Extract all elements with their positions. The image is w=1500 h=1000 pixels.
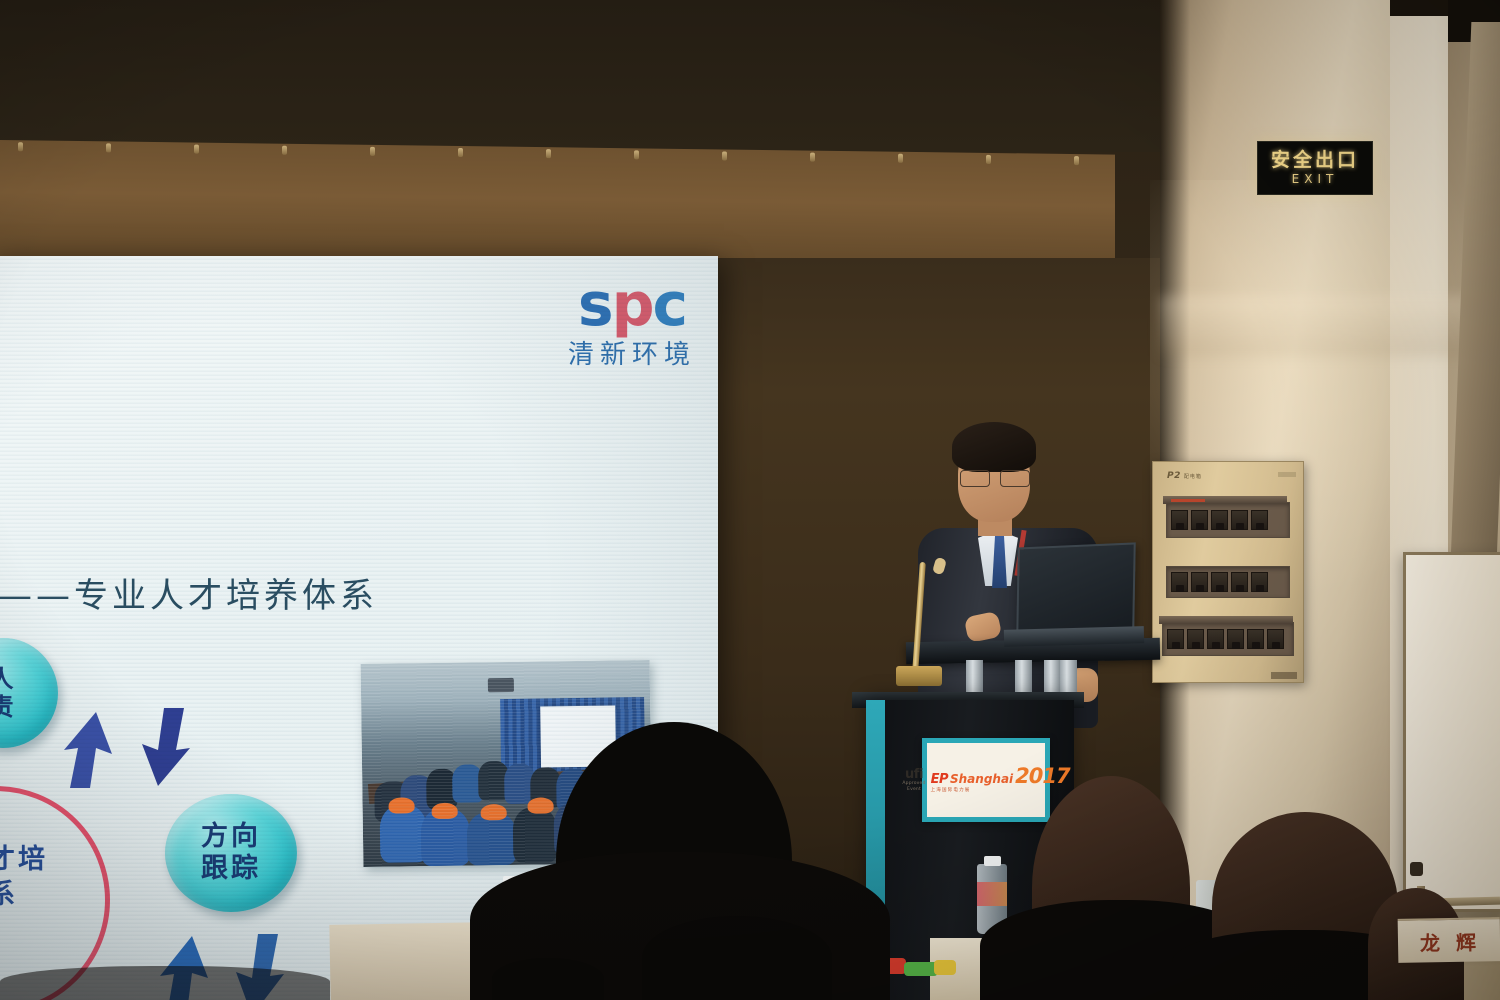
circuit-breaker <box>1211 572 1228 592</box>
breaker-lip-3 <box>1159 616 1293 624</box>
wall-tack <box>106 143 111 152</box>
glasses-icon <box>960 470 1030 485</box>
audience-head <box>642 916 832 1000</box>
ufi-sub-event: Event <box>902 788 925 793</box>
wall-tack <box>18 142 23 151</box>
desk-toy <box>884 950 964 980</box>
speaker-hair <box>952 422 1036 472</box>
whiteboard <box>1403 552 1500 912</box>
ufi-logo: ufi Approved Event <box>902 768 925 792</box>
electrical-panel: P2配电箱 <box>1152 461 1304 683</box>
toy-part-yellow <box>934 960 956 975</box>
circuit-breaker <box>1187 629 1204 649</box>
exit-sign-chinese: 安全出口 <box>1271 151 1359 170</box>
circuit-breaker <box>1231 510 1248 530</box>
bubble-top-left-partial: 人 责 <box>0 638 58 748</box>
center-text-line1: 人才培 <box>0 842 48 877</box>
ep-shanghai-logo: EP Shanghai 2017 上海国际电力展 <box>931 766 1070 794</box>
exit-sign: 安全出口 EXIT <box>1257 141 1373 195</box>
ep-city: Shanghai <box>950 773 1013 785</box>
circuit-breaker <box>1207 629 1224 649</box>
water-bottle-label <box>977 882 1007 906</box>
ep-logo-row: EP Shanghai 2017 <box>931 766 1070 787</box>
center-circle-text: 人才培 体系 <box>0 842 48 912</box>
circuit-breaker <box>1191 572 1208 592</box>
wall-tack <box>282 146 287 155</box>
wall-tack <box>1074 156 1079 165</box>
panel-corner-tag <box>1278 472 1296 477</box>
whiteboard-knob <box>1410 862 1423 876</box>
wall-tack <box>986 155 991 164</box>
conference-hall-photo: 安全出口 EXIT P2配电箱 <box>0 0 1500 1000</box>
spc-wordmark: spc <box>568 278 696 332</box>
bubble0-line1: 人 <box>0 665 17 693</box>
spc-letter-p: p <box>612 270 653 340</box>
circuit-breaker <box>1227 629 1244 649</box>
bubble1-line2: 跟踪 <box>201 853 261 885</box>
ufi-sub-approved: Approved <box>902 782 925 787</box>
wall-tack <box>370 147 375 156</box>
slide-title: ——专业人才培养体系 <box>0 568 378 617</box>
soffit-light <box>1160 296 1500 356</box>
circuit-breaker <box>1247 629 1264 649</box>
circuit-breaker <box>1171 510 1188 530</box>
spc-letter-c: c <box>653 270 687 340</box>
breaker-row-1 <box>1166 502 1290 538</box>
audience-shoulders <box>0 966 330 1000</box>
ep-chinese-subtitle: 上海国际电力展 <box>931 789 1070 794</box>
wall-tack <box>810 153 815 162</box>
ep-year: 2017 <box>1015 766 1069 787</box>
wall-tack <box>458 148 463 157</box>
cycle-arrow-upper <box>62 696 192 816</box>
wall-tack <box>194 145 199 154</box>
podium-event-sign: ufi Approved Event EP Shanghai 2017 上海国际… <box>922 738 1050 822</box>
circuit-breaker <box>1251 510 1268 530</box>
circuit-breaker <box>1191 510 1208 530</box>
wall-tack <box>722 151 727 160</box>
wall-tack <box>546 149 551 158</box>
center-text-line2: 体系 <box>0 877 48 912</box>
microphone-base <box>896 666 942 686</box>
panel-sub-label: 配电箱 <box>1184 474 1202 480</box>
panel-label: P2配电箱 <box>1167 471 1202 481</box>
circuit-breaker <box>1251 572 1268 592</box>
bubble0-line2: 责 <box>0 693 17 721</box>
ceiling-dark-block-2 <box>1390 0 1448 16</box>
circuit-breaker <box>1231 572 1248 592</box>
water-bottle-cap <box>984 856 1001 866</box>
panel-bottom-tag <box>1271 672 1297 679</box>
exit-sign-english: EXIT <box>1292 173 1339 185</box>
circuit-breaker <box>1171 572 1188 592</box>
breaker-row-2 <box>1166 566 1290 598</box>
spc-letter-s: s <box>578 270 612 340</box>
wall-tack <box>898 154 903 163</box>
event-sign-inner: ufi Approved Event EP Shanghai 2017 上海国际… <box>927 743 1045 817</box>
spc-logo: spc 清新环境 <box>568 278 696 371</box>
circuit-breaker <box>1267 629 1284 649</box>
name-placard: 龙 辉 <box>1398 917 1500 963</box>
upper-wall <box>0 0 1160 152</box>
breaker-marker-1 <box>1171 499 1205 502</box>
circuit-breaker <box>1167 629 1184 649</box>
name-placard-char2: 辉 <box>1456 926 1479 955</box>
name-placard-char1: 龙 <box>1420 927 1443 956</box>
bubble1-line1: 方向 <box>201 821 261 853</box>
wall-tack <box>634 150 639 159</box>
spc-chinese-name: 清新环境 <box>568 334 696 371</box>
audience-head <box>492 958 604 1000</box>
laptop-screen[interactable] <box>1016 542 1136 635</box>
ufi-label: ufi <box>902 768 925 781</box>
panel-label-text: P2 <box>1167 471 1181 481</box>
toy-part-green <box>904 962 938 976</box>
ep-prefix: EP <box>931 773 948 786</box>
circuit-breaker <box>1211 510 1228 530</box>
breaker-row-3 <box>1162 622 1294 656</box>
